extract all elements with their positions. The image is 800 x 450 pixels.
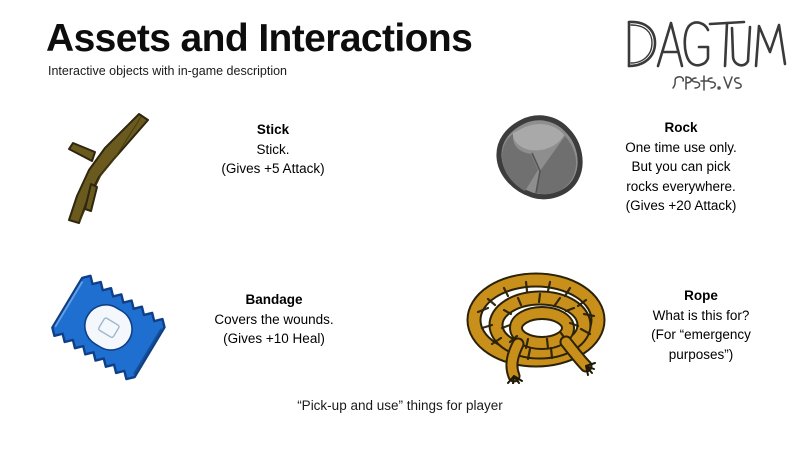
rock-name: Rock <box>606 118 756 138</box>
item-card-rock[interactable]: Rock One time use only. But you can pick… <box>492 112 756 216</box>
stick-name: Stick <box>183 120 363 140</box>
page-subtitle: Interactive objects with in-game descrip… <box>48 64 287 78</box>
rock-icon <box>492 112 594 208</box>
slide-canvas: Assets and Interactions Interactive obje… <box>0 0 800 450</box>
bandage-icon <box>48 270 174 388</box>
stick-desc-line-2: (Gives +5 Attack) <box>183 159 363 179</box>
rope-text-block: Rope What is this for? (For “emergency p… <box>626 286 776 364</box>
rock-desc-line-3: rocks everywhere. <box>606 177 756 197</box>
rope-desc-line-2: (For “emergency <box>626 325 776 345</box>
stick-icon <box>55 108 175 233</box>
bandage-name: Bandage <box>184 290 364 310</box>
bandage-illustration <box>48 270 174 393</box>
rope-name: Rope <box>626 286 776 306</box>
rope-desc-line-3: purposes”) <box>626 345 776 365</box>
rope-illustration <box>462 272 612 389</box>
rock-desc-line-1: One time use only. <box>606 138 756 158</box>
page-title: Assets and Interactions <box>46 19 472 60</box>
rock-illustration <box>492 112 594 213</box>
rock-text-block: Rock One time use only. But you can pick… <box>606 118 756 216</box>
item-card-bandage[interactable]: Bandage Covers the wounds. (Gives +10 He… <box>48 270 364 393</box>
brand-logo <box>620 14 788 102</box>
dagtum-runes-icon <box>668 72 748 96</box>
bandage-desc-line-1: Covers the wounds. <box>184 310 364 330</box>
stick-desc-line-1: Stick. <box>183 140 363 160</box>
item-card-rope[interactable]: Rope What is this for? (For “emergency p… <box>462 272 776 389</box>
bandage-text-block: Bandage Covers the wounds. (Gives +10 He… <box>184 290 364 349</box>
rope-icon <box>462 272 612 384</box>
rope-desc-line-1: What is this for? <box>626 306 776 326</box>
bandage-desc-line-2: (Gives +10 Heal) <box>184 329 364 349</box>
rock-desc-line-4: (Gives +20 Attack) <box>606 196 756 216</box>
item-card-stick[interactable]: Stick Stick. (Gives +5 Attack) <box>55 108 363 238</box>
footer-caption: “Pick-up and use” things for player <box>0 398 800 413</box>
stick-illustration <box>55 108 175 238</box>
stick-text-block: Stick Stick. (Gives +5 Attack) <box>183 120 363 179</box>
dagtum-wordmark-icon <box>620 14 788 76</box>
rock-desc-line-2: But you can pick <box>606 157 756 177</box>
